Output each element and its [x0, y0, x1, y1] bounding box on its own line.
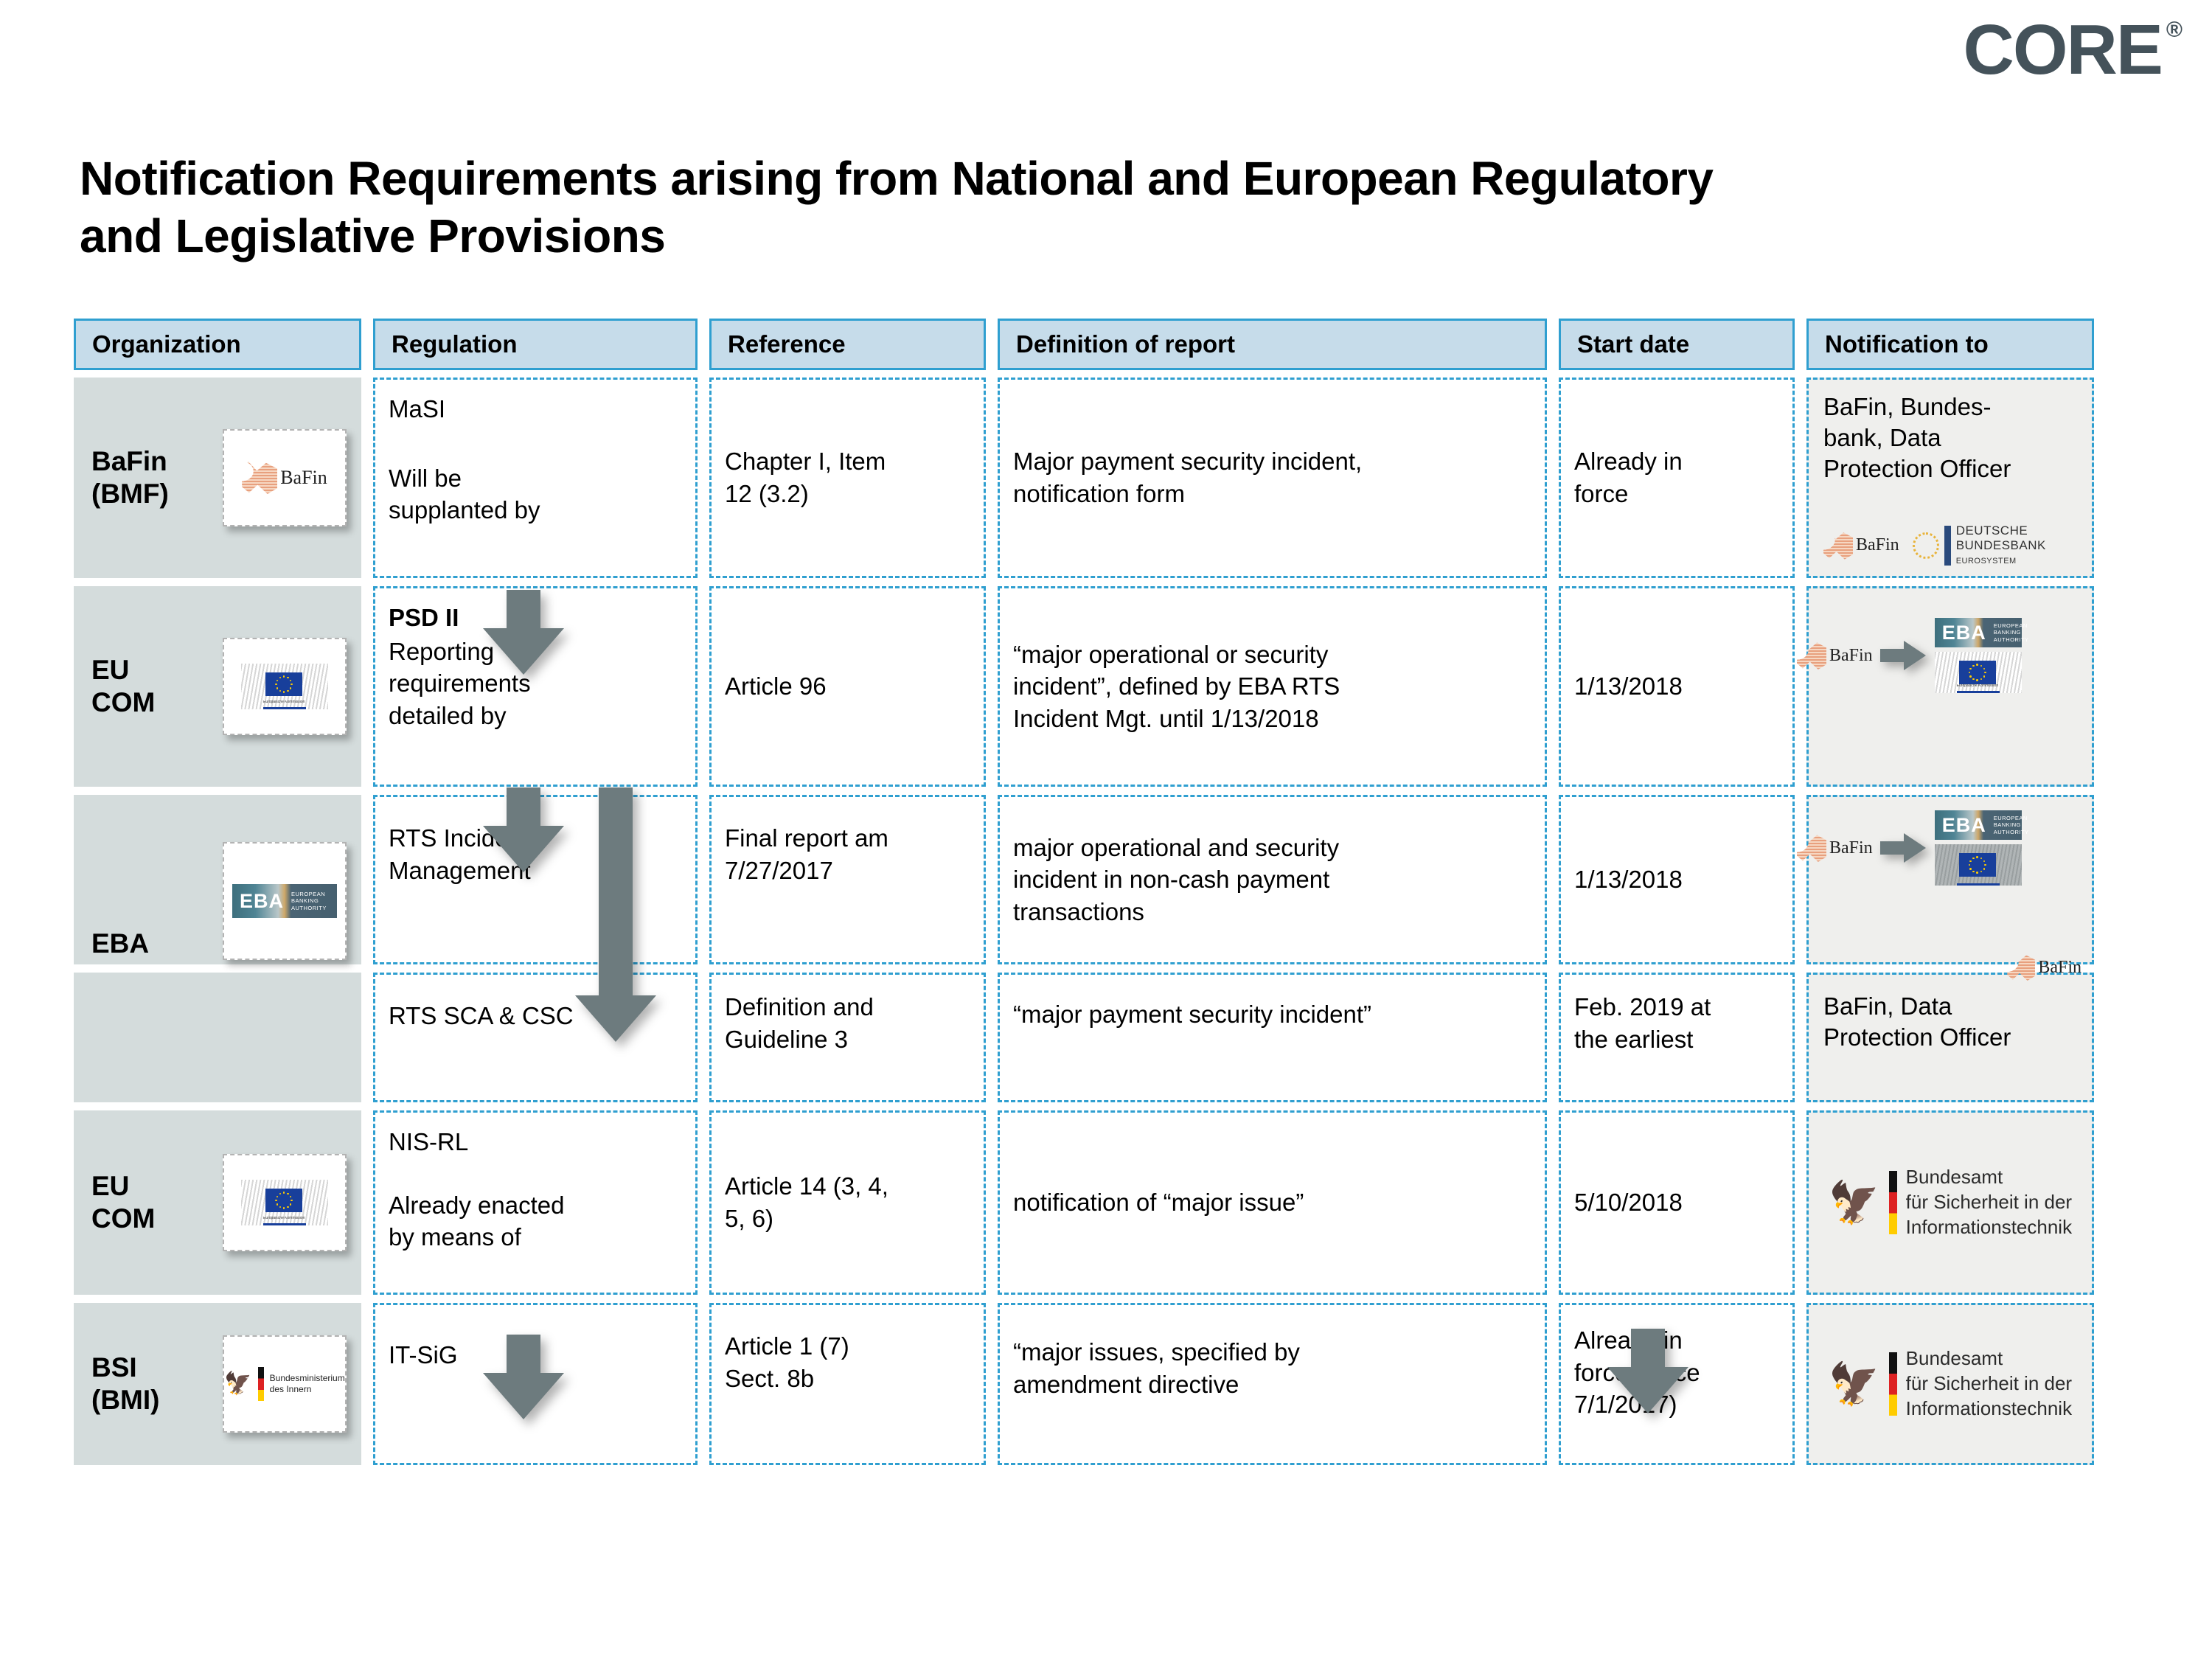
- eba-subtitle: EUROPEAN BANKING AUTHORITY: [1986, 622, 2029, 643]
- eba-wordmark: EBA: [232, 890, 284, 913]
- reference-text: Article 14 (3, 4, 5, 6): [712, 1113, 984, 1293]
- organization-label: EU COM: [91, 654, 209, 718]
- european-commission-logo: Europäische Kommission: [1935, 652, 2022, 693]
- arrow-right-icon: [1880, 830, 1927, 866]
- table-row: EU COM Europäische Kommission PSD II Rep…: [74, 586, 2160, 787]
- column-header-regulation: Regulation: [373, 319, 698, 370]
- bafin-logo: BaFin: [2007, 954, 2081, 981]
- european-commission-logo: Europäische Kommission: [223, 1154, 347, 1251]
- eba-logo: EBA EUROPEAN BANKING AUTHORITY: [1935, 618, 2022, 647]
- table-row: BaFin (BMF) BaFin MaSI Will be supplante…: [74, 378, 2160, 578]
- column-header-reference: Reference: [709, 319, 986, 370]
- bafin-logo: BaFin: [223, 429, 347, 526]
- regulation-note: Will be supplanted by: [375, 425, 695, 526]
- bafin-logo: BaFin: [1797, 834, 1873, 862]
- notification-cell: BaFin EBA EUROPEAN BANKING AUTHORITY: [1806, 795, 2094, 964]
- definition-cell: Major payment security incident, notific…: [998, 378, 1547, 578]
- notification-logos: BaFin DEUTSCHE BUNDESBANK EUROSYSTEM: [1823, 524, 2046, 567]
- eba-subtitle: EUROPEAN BANKING AUTHORITY: [1986, 815, 2029, 835]
- german-eagle-icon: 🦅: [1829, 1363, 1880, 1405]
- flow-arrow-start-date: [1604, 1329, 1692, 1417]
- organization-cell: EU COM Europäische Kommission: [74, 586, 361, 787]
- core-logo: CORE ®: [1964, 15, 2183, 86]
- eba-wordmark: EBA: [1935, 814, 1986, 837]
- flow-arrow-psdii-to-rts-incident: [479, 787, 568, 876]
- eu-commission-icon: Europäische Kommission: [241, 664, 328, 709]
- bsi-wordmark: Bundesamt für Sicherheit in der Informat…: [1906, 1165, 2072, 1239]
- european-commission-logo: Europäische Kommission: [223, 638, 347, 735]
- start-date-cell: 5/10/2018: [1559, 1110, 1795, 1295]
- reference-text: Final report am 7/27/2017: [712, 797, 984, 886]
- organization-cell: BaFin (BMF) BaFin: [74, 378, 361, 578]
- bafin-wordmark: BaFin: [1856, 535, 1899, 554]
- start-date-text: 5/10/2018: [1561, 1113, 1792, 1293]
- reference-cell: Article 1 (7) Sect. 8b: [709, 1303, 986, 1465]
- start-date-cell: 1/13/2018: [1559, 586, 1795, 787]
- bafin-wave-icon: [1823, 532, 1853, 560]
- german-flag-bar-icon: [1889, 1171, 1897, 1234]
- bsi-logo: 🦅 Bundesamt für Sicherheit in der Inform…: [1829, 1346, 2072, 1421]
- registered-trademark-icon: ®: [2166, 19, 2183, 41]
- reference-cell: Article 14 (3, 4, 5, 6): [709, 1110, 986, 1295]
- table-header-row: Organization Regulation Reference Defini…: [74, 319, 2160, 370]
- notification-cell: BaFin EBA EUROPEAN BANKING AUTHORITY Eur…: [1806, 586, 2094, 787]
- organization-cell: [74, 973, 361, 1102]
- definition-text: major operational and security incident …: [1000, 797, 1545, 962]
- bundesministerium-des-innern-logo: 🦅 Bundesministerium des Innern: [223, 1335, 347, 1433]
- reference-cell: Article 96: [709, 586, 986, 787]
- bundesbank-wordmark: DEUTSCHE BUNDESBANK EUROSYSTEM: [1956, 524, 2046, 567]
- start-date-text: 1/13/2018: [1561, 797, 1792, 962]
- table-row: EBA EBA EUROPEAN BANKING AUTHORITY RTS I…: [74, 795, 2160, 964]
- regulation-note: Already enacted by means of: [375, 1158, 695, 1253]
- start-date-text: Already in force: [1561, 380, 1792, 576]
- regulation-title: MaSI: [375, 380, 695, 425]
- start-date-cell: Feb. 2019 at the earliest: [1559, 973, 1795, 1102]
- organization-cell: BSI (BMI) 🦅 Bundesministerium des Innern: [74, 1303, 361, 1465]
- definition-text: Major payment security incident, notific…: [1000, 380, 1545, 576]
- bafin-logo: BaFin: [1823, 532, 1899, 560]
- eu-commission-icon: Europäische Kommission: [241, 1180, 328, 1225]
- reference-text: Definition and Guideline 3: [712, 975, 984, 1055]
- organization-cell: EU COM Europäische Kommission: [74, 1110, 361, 1295]
- european-commission-logo: [1935, 844, 2022, 886]
- eba-wordmark: EBA: [1935, 622, 1986, 644]
- table-row: RTS SCA & CSC Definition and Guideline 3…: [74, 973, 2160, 1102]
- column-header-organization: Organization: [74, 319, 361, 370]
- definition-cell: “major payment security incident”: [998, 973, 1547, 1102]
- bsi-logo: 🦅 Bundesamt für Sicherheit in der Inform…: [1829, 1165, 2072, 1239]
- regulation-title: NIS-RL: [375, 1113, 695, 1158]
- reference-text: Article 96: [712, 588, 984, 785]
- bafin-wave-icon: [1797, 641, 1826, 669]
- start-date-cell: 1/13/2018: [1559, 795, 1795, 964]
- page-title: Notification Requirements arising from N…: [80, 150, 1775, 265]
- eu-stars-ring-icon: [1913, 532, 1939, 559]
- bafin-wave-icon: [242, 462, 277, 494]
- bsi-wordmark: Bundesamt für Sicherheit in der Informat…: [1906, 1346, 2072, 1421]
- deutsche-bundesbank-logo: DEUTSCHE BUNDESBANK EUROSYSTEM: [1913, 524, 2046, 567]
- start-date-text: 1/13/2018: [1561, 588, 1792, 785]
- notification-cell: BaFin, Data Protection Officer BaFin: [1806, 973, 2094, 1102]
- bafin-logo: BaFin: [1797, 641, 1873, 669]
- requirements-table: Organization Regulation Reference Defini…: [74, 319, 2160, 1465]
- reference-cell: Chapter I, Item 12 (3.2): [709, 378, 986, 578]
- definition-text: notification of “major issue”: [1000, 1113, 1545, 1293]
- organization-label: BSI (BMI): [91, 1352, 209, 1416]
- notification-cell: BaFin, Bundes- bank, Data Protection Off…: [1806, 378, 2094, 578]
- eba-logo: EBA EUROPEAN BANKING AUTHORITY: [223, 842, 347, 960]
- start-date-cell: Already in force: [1559, 378, 1795, 578]
- organization-label: EBA: [91, 928, 209, 960]
- german-eagle-icon: 🦅: [1829, 1182, 1880, 1223]
- bmi-wordmark: Bundesministerium des Innern: [270, 1373, 345, 1395]
- column-header-definition-of-report: Definition of report: [998, 319, 1547, 370]
- bafin-wordmark: BaFin: [2038, 958, 2081, 977]
- eba-logo: EBA EUROPEAN BANKING AUTHORITY: [1935, 810, 2022, 840]
- reference-text: Chapter I, Item 12 (3.2): [712, 380, 984, 576]
- notification-logos: BaFin EBA EUROPEAN BANKING AUTHORITY Eur…: [1797, 618, 2022, 693]
- flow-arrow-masi-to-psdii: [479, 590, 568, 678]
- arrow-right-icon: [1880, 638, 1927, 673]
- core-wordmark: CORE: [1964, 15, 2162, 86]
- definition-text: “major payment security incident”: [1000, 975, 1545, 1031]
- notification-cell: 🦅 Bundesamt für Sicherheit in der Inform…: [1806, 1110, 2094, 1295]
- definition-cell: notification of “major issue”: [998, 1110, 1547, 1295]
- german-eagle-icon: 🦅: [224, 1373, 251, 1395]
- flow-arrow-nisrl-to-itsig: [479, 1335, 568, 1423]
- bafin-wave-icon: [2007, 954, 2035, 981]
- notification-cell: 🦅 Bundesamt für Sicherheit in der Inform…: [1806, 1303, 2094, 1465]
- notification-text: BaFin, Data Protection Officer: [1809, 975, 2092, 1100]
- definition-text: “major operational or security incident”…: [1000, 588, 1545, 785]
- flow-arrow-psdii-to-rts-sca-csc: [571, 787, 660, 1046]
- german-flag-bar-icon: [258, 1367, 264, 1401]
- column-header-notification-to: Notification to: [1806, 319, 2094, 370]
- bafin-wordmark: BaFin: [280, 467, 327, 489]
- start-date-text: Feb. 2019 at the earliest: [1561, 975, 1792, 1055]
- notification-logos: BaFin EBA EUROPEAN BANKING AUTHORITY: [1797, 810, 2022, 886]
- bundesbank-bar-icon: [1944, 526, 1951, 566]
- bafin-wordmark: BaFin: [1829, 646, 1873, 665]
- reference-cell: Definition and Guideline 3: [709, 973, 986, 1102]
- organization-label: EU COM: [91, 1170, 209, 1234]
- regulation-cell: NIS-RL Already enacted by means of: [373, 1110, 698, 1295]
- bafin-wordmark: BaFin: [1829, 838, 1873, 858]
- organization-label: BaFin (BMF): [91, 445, 209, 509]
- organization-cell: EBA EBA EUROPEAN BANKING AUTHORITY: [74, 795, 361, 964]
- reference-cell: Final report am 7/27/2017: [709, 795, 986, 964]
- definition-text: “major issues, specified by amendment di…: [1000, 1305, 1545, 1400]
- regulation-cell: MaSI Will be supplanted by: [373, 378, 698, 578]
- eba-subtitle: EUROPEAN BANKING AUTHORITY: [284, 891, 327, 911]
- reference-text: Article 1 (7) Sect. 8b: [712, 1305, 984, 1394]
- german-flag-bar-icon: [1889, 1352, 1897, 1416]
- definition-cell: “major issues, specified by amendment di…: [998, 1303, 1547, 1465]
- table-row: EU COM Europäische Kommission NIS-RL Alr…: [74, 1110, 2160, 1295]
- bafin-wave-icon: [1797, 834, 1826, 862]
- table-row: BSI (BMI) 🦅 Bundesministerium des Innern…: [74, 1303, 2160, 1465]
- definition-cell: “major operational or security incident”…: [998, 586, 1547, 787]
- column-header-start-date: Start date: [1559, 319, 1795, 370]
- definition-cell: major operational and security incident …: [998, 795, 1547, 964]
